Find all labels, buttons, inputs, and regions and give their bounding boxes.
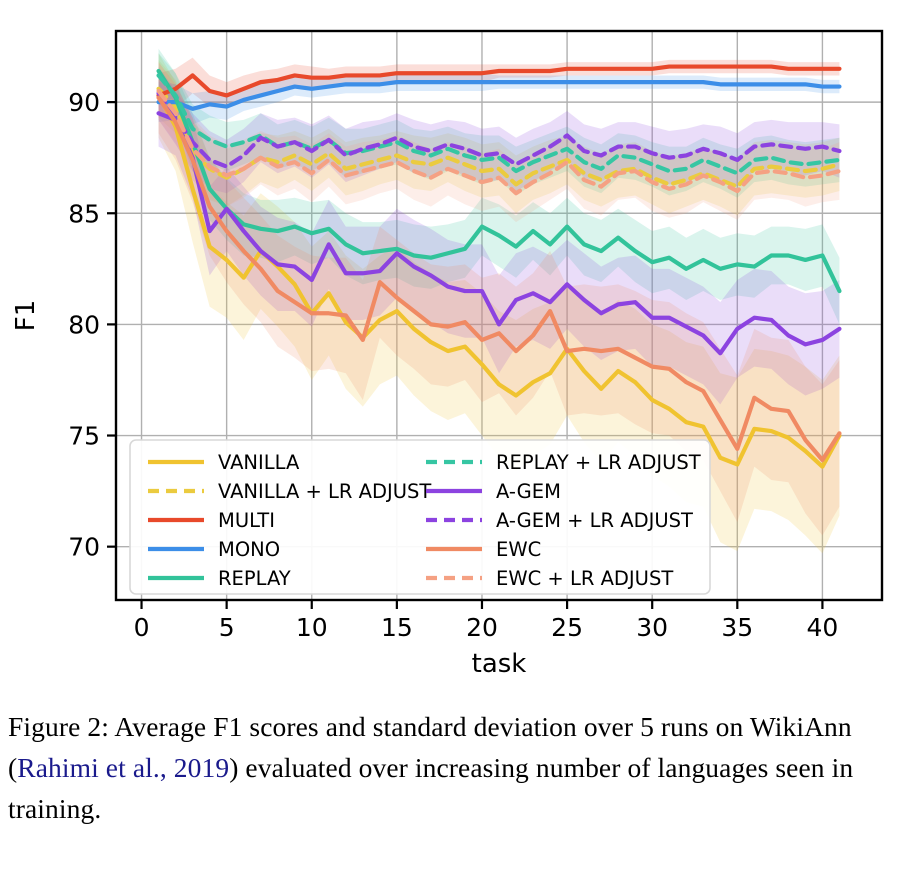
y-tick-label: 80	[68, 310, 100, 339]
legend-label-vanilla[interactable]: VANILLA	[218, 451, 300, 474]
y-tick-label: 85	[68, 199, 100, 228]
caption-citation-link[interactable]: Rahimi et al., 2019	[17, 752, 229, 783]
x-tick-label: 40	[807, 613, 839, 642]
y-tick-label: 70	[68, 533, 100, 562]
x-tick-label: 35	[721, 613, 753, 642]
chart-legend: VANILLAVANILLA + LR ADJUSTMULTIMONOREPLA…	[130, 440, 710, 594]
x-axis-title: task	[472, 649, 527, 679]
legend-label-vanilla-lr-adjust[interactable]: VANILLA + LR ADJUST	[218, 480, 431, 503]
x-tick-label: 5	[219, 613, 235, 642]
legend-label-replay[interactable]: REPLAY	[218, 567, 291, 590]
legend-label-ewc-lr-adjust[interactable]: EWC + LR ADJUST	[496, 567, 673, 590]
figure-caption: Figure 2: Average F1 scores and standard…	[8, 706, 910, 829]
figure-container: 05101520253035407075808590taskF1VANILLAV…	[0, 0, 918, 880]
x-tick-label: 15	[381, 613, 413, 642]
caption-figure-number: Figure 2:	[8, 711, 109, 742]
legend-label-a-gem[interactable]: A-GEM	[496, 480, 561, 503]
legend-label-a-gem-lr-adjust[interactable]: A-GEM + LR ADJUST	[496, 509, 693, 532]
y-tick-label: 75	[68, 422, 100, 451]
x-tick-label: 25	[551, 613, 583, 642]
y-axis-title: F1	[11, 300, 41, 332]
x-tick-label: 20	[466, 613, 498, 642]
legend-label-multi[interactable]: MULTI	[218, 509, 275, 532]
y-tick-label: 90	[68, 88, 100, 117]
x-tick-label: 10	[296, 613, 328, 642]
f1-line-chart: 05101520253035407075808590taskF1VANILLAV…	[0, 0, 918, 700]
x-tick-label: 0	[134, 613, 150, 642]
legend-label-replay-lr-adjust[interactable]: REPLAY + LR ADJUST	[496, 451, 701, 474]
chart-canvas: 05101520253035407075808590taskF1VANILLAV…	[0, 0, 918, 700]
legend-label-mono[interactable]: MONO	[218, 538, 280, 561]
legend-label-ewc[interactable]: EWC	[496, 538, 541, 561]
x-tick-label: 30	[636, 613, 668, 642]
